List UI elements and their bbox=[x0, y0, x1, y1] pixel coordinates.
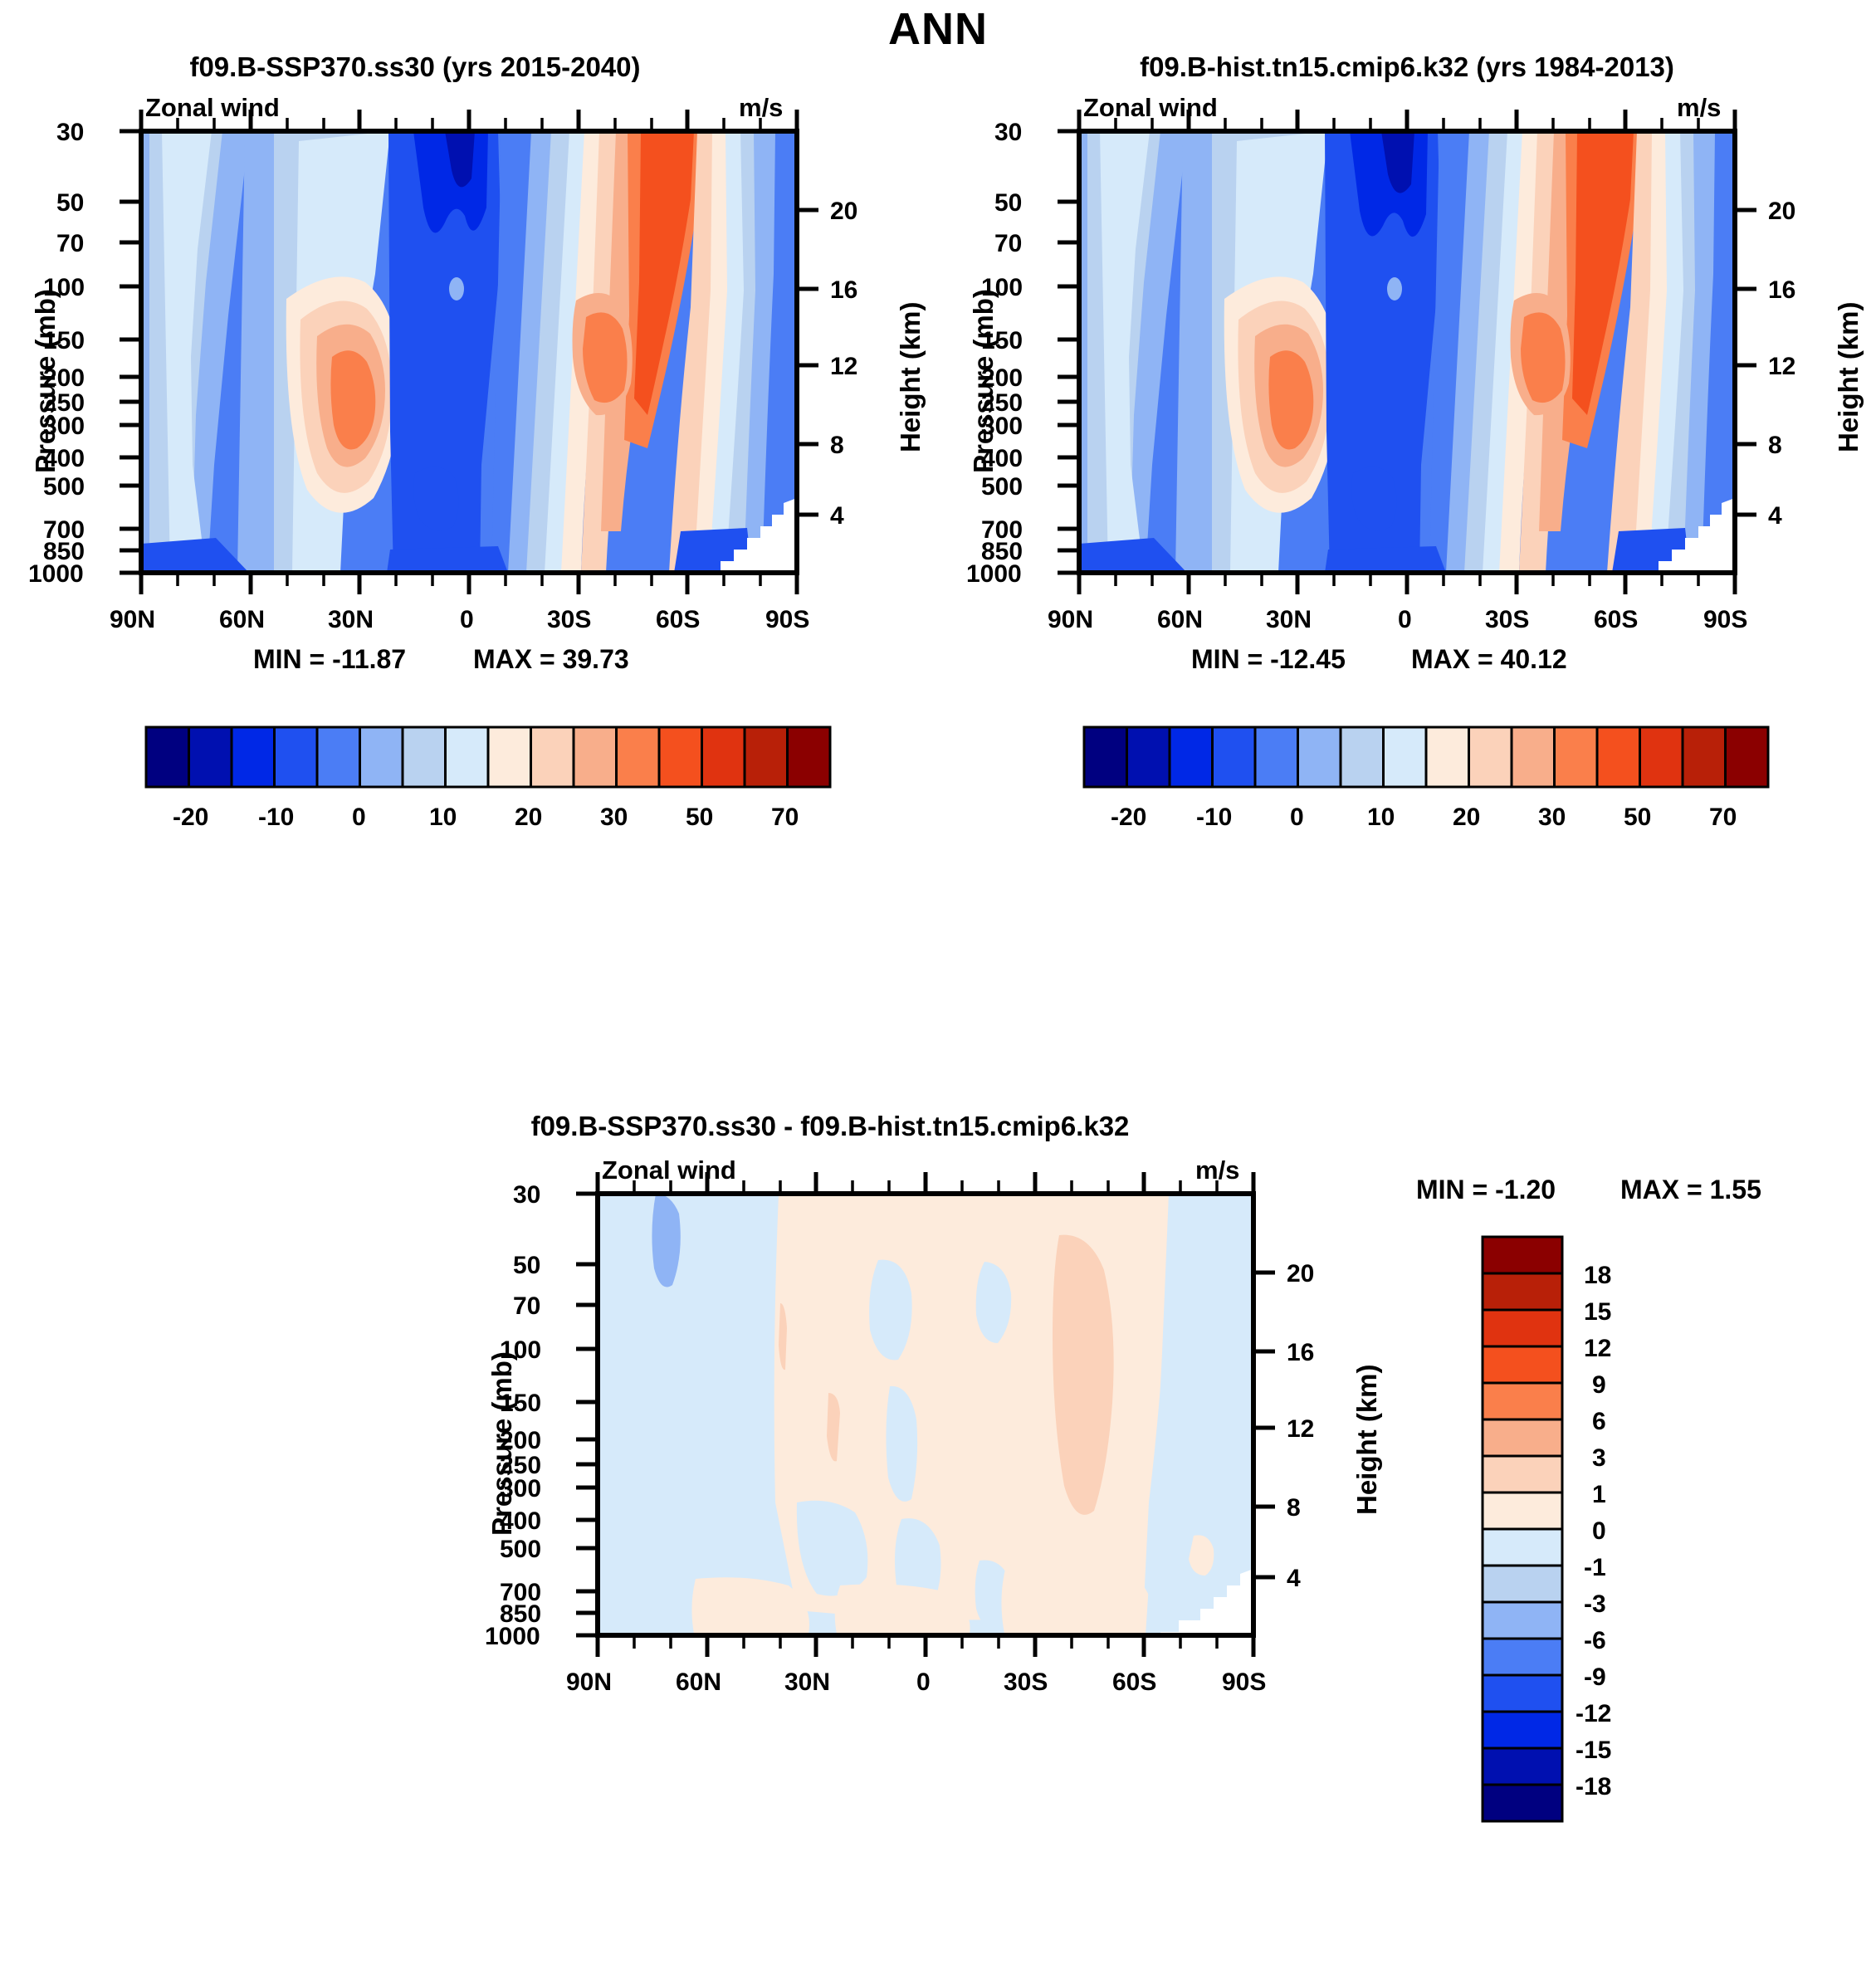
panel-case1-xtick-30S: 30S bbox=[547, 606, 591, 634]
panel-diff-y2tick-12: 12 bbox=[1287, 1415, 1314, 1444]
panel-diff-cblabel-m1: -1 bbox=[1584, 1554, 1606, 1582]
panel-diff-ytick-50: 50 bbox=[513, 1252, 540, 1280]
panel-case2-xtick-30N: 30N bbox=[1266, 606, 1312, 634]
panel-case2-xtick-90S: 90S bbox=[1703, 606, 1747, 634]
panel-diff-cblabel-m9: -9 bbox=[1584, 1664, 1606, 1692]
panel-case2-cblabel-0: -20 bbox=[1111, 804, 1146, 832]
panel-case1-cblabel-7: 70 bbox=[771, 804, 799, 832]
panel-diff-ytick-500: 500 bbox=[500, 1536, 541, 1564]
panel-case2-xtick-0: 0 bbox=[1398, 606, 1412, 634]
panel-case2-cblabel-1: -10 bbox=[1196, 804, 1232, 832]
panel-case2-y2tick-12: 12 bbox=[1768, 353, 1795, 381]
panel-case1-y2tick-8: 8 bbox=[830, 432, 844, 460]
panel-diff-xtick-30S: 30S bbox=[1004, 1668, 1048, 1697]
panel-diff-cblabel-m15: -15 bbox=[1576, 1737, 1611, 1765]
panel-diff-min-label: MIN = -1.20 bbox=[1416, 1175, 1556, 1205]
panel-diff-xtick-30N: 30N bbox=[784, 1668, 830, 1697]
panel-case1-contour-field bbox=[141, 131, 797, 573]
panel-case1-cblabel-0: -20 bbox=[173, 804, 208, 832]
panel-diff-xtick-60S: 60S bbox=[1112, 1668, 1156, 1697]
colorbar-main-cells-1[interactable] bbox=[146, 727, 830, 787]
panel-case2-cblabel-6: 50 bbox=[1624, 804, 1651, 832]
colorbar-main-cells-2[interactable] bbox=[1084, 727, 1768, 787]
panel-case1-ytick-70: 70 bbox=[56, 230, 84, 258]
panel-diff-ytick-400: 400 bbox=[500, 1507, 541, 1536]
panel-diff-y2tick-4: 4 bbox=[1287, 1565, 1301, 1593]
panel-case1-ytick-30: 30 bbox=[56, 119, 84, 147]
panel-case2-cblabel-3: 10 bbox=[1367, 804, 1395, 832]
panel-case1-max-label: MAX = 39.73 bbox=[473, 644, 629, 675]
panel-case1-xtick-90S: 90S bbox=[765, 606, 809, 634]
panel-case2-ytick-1000: 1000 bbox=[966, 560, 1022, 589]
panel-case2-cblabel-5: 30 bbox=[1538, 804, 1566, 832]
panel-case2-ytick-200: 200 bbox=[981, 364, 1023, 393]
panel-diff-cblabel-m18: -18 bbox=[1576, 1773, 1611, 1801]
panel-case2-ytick-70: 70 bbox=[994, 230, 1022, 258]
panel-case2-cblabel-2: 0 bbox=[1290, 804, 1304, 832]
panel-case2-xtick-60S: 60S bbox=[1594, 606, 1638, 634]
panel-case2-xtick-90N: 90N bbox=[1048, 606, 1093, 634]
panel-case2-xtick-30S: 30S bbox=[1485, 606, 1529, 634]
panel-case1-ytick-200: 200 bbox=[43, 364, 85, 393]
panel-case1-ytick-400: 400 bbox=[43, 445, 85, 473]
panel-diff-ytick-200: 200 bbox=[500, 1427, 541, 1455]
panel-case1-cblabel-1: -10 bbox=[258, 804, 294, 832]
panel-diff-cblabel-m3: -3 bbox=[1584, 1590, 1606, 1619]
panel-case1-cblabel-2: 0 bbox=[352, 804, 366, 832]
panel-case1-xtick-0: 0 bbox=[460, 606, 474, 634]
panel-case1-ytick-500: 500 bbox=[43, 473, 85, 501]
panel-case2-ytick-300: 300 bbox=[981, 413, 1023, 441]
colorbar-diff-cells[interactable] bbox=[1483, 1237, 1562, 1821]
panel-case1-cblabel-5: 30 bbox=[600, 804, 628, 832]
panel-diff-cblabel-m12: -12 bbox=[1576, 1700, 1611, 1728]
panel-case1-y2tick-4: 4 bbox=[830, 502, 844, 530]
panel-diff-cblabel-12: 12 bbox=[1584, 1335, 1611, 1363]
panel-diff-cblabel-0: 0 bbox=[1592, 1517, 1606, 1546]
panel-diff-cblabel-15: 15 bbox=[1584, 1298, 1611, 1326]
panel-diff-xtick-60N: 60N bbox=[676, 1668, 721, 1697]
panel-case2-ytick-100: 100 bbox=[981, 274, 1023, 302]
panel-diff-ytick-30: 30 bbox=[513, 1181, 540, 1209]
panel-case2-cblabel-4: 20 bbox=[1453, 804, 1480, 832]
panel-case1-xtick-90N: 90N bbox=[110, 606, 155, 634]
panel-case1-ytick-1000: 1000 bbox=[28, 560, 84, 589]
panel-case2-y2tick-20: 20 bbox=[1768, 198, 1795, 226]
panel-case1-cblabel-6: 50 bbox=[686, 804, 713, 832]
panel-case2-ytick-400: 400 bbox=[981, 445, 1023, 473]
panel-diff-xtick-0: 0 bbox=[916, 1668, 931, 1697]
panel-case2-xtick-60N: 60N bbox=[1157, 606, 1203, 634]
panel-case1-y2tick-12: 12 bbox=[830, 353, 857, 381]
panel-case2-ytick-50: 50 bbox=[994, 189, 1022, 217]
panel-case1-cblabel-3: 10 bbox=[429, 804, 457, 832]
panel-case2-ytick-150: 150 bbox=[981, 327, 1023, 355]
panel-diff-cblabel-6: 6 bbox=[1592, 1408, 1606, 1436]
figure-root: ANN f09.B-SSP370.ss30 (yrs 2015-2040) Zo… bbox=[0, 0, 1876, 1964]
panel-case2-ytick-500: 500 bbox=[981, 473, 1023, 501]
panel-case1-ytick-100: 100 bbox=[43, 274, 85, 302]
panel-diff-y2tick-20: 20 bbox=[1287, 1260, 1314, 1288]
panel-case1-ytick-50: 50 bbox=[56, 189, 84, 217]
panel-diff-cblabel-9: 9 bbox=[1592, 1371, 1606, 1400]
panel-diff-cblabel-1: 1 bbox=[1592, 1481, 1606, 1509]
panel-diff: f09.B-SSP370.ss30 - f09.B-hist.tn15.cmip… bbox=[0, 1071, 1876, 1964]
panel-diff-ytick-100: 100 bbox=[500, 1336, 541, 1365]
panel-case1: f09.B-SSP370.ss30 (yrs 2015-2040) Zonal … bbox=[0, 0, 938, 1079]
panel-case2: f09.B-hist.tn15.cmip6.k32 (yrs 1984-2013… bbox=[938, 0, 1876, 1079]
panel-case1-xtick-30N: 30N bbox=[328, 606, 374, 634]
panel-diff-ytick-1000: 1000 bbox=[485, 1623, 540, 1651]
panel-case2-y2tick-4: 4 bbox=[1768, 502, 1782, 530]
panel-case1-y2tick-16: 16 bbox=[830, 276, 857, 305]
panel-diff-xtick-90N: 90N bbox=[566, 1668, 612, 1697]
panel-case1-xtick-60N: 60N bbox=[219, 606, 265, 634]
panel-diff-cblabel-m6: -6 bbox=[1584, 1627, 1606, 1655]
panel-case1-ytick-150: 150 bbox=[43, 327, 85, 355]
panel-diff-xtick-90S: 90S bbox=[1222, 1668, 1266, 1697]
panel-diff-ytick-70: 70 bbox=[513, 1292, 540, 1321]
panel-diff-max-label: MAX = 1.55 bbox=[1620, 1175, 1761, 1205]
panel-case2-min-label: MIN = -12.45 bbox=[1191, 644, 1346, 675]
panel-diff-y2tick-16: 16 bbox=[1287, 1339, 1314, 1367]
panel-case1-cblabel-4: 20 bbox=[515, 804, 542, 832]
panel-case2-cblabel-7: 70 bbox=[1709, 804, 1737, 832]
panel-case1-ytick-300: 300 bbox=[43, 413, 85, 441]
panel-diff-ytick-150: 150 bbox=[500, 1390, 541, 1418]
panel-case1-y2tick-20: 20 bbox=[830, 198, 857, 226]
panel-case1-xtick-60S: 60S bbox=[656, 606, 700, 634]
panel-case2-y2tick-16: 16 bbox=[1768, 276, 1795, 305]
panel-case1-min-label: MIN = -11.87 bbox=[253, 644, 406, 675]
panel-diff-contour-field bbox=[598, 1194, 1253, 1635]
panel-case2-y2tick-8: 8 bbox=[1768, 432, 1782, 460]
panel-diff-y2tick-8: 8 bbox=[1287, 1494, 1301, 1522]
panel-case2-ytick-30: 30 bbox=[994, 119, 1022, 147]
panel-case2-contour-field bbox=[1079, 131, 1735, 573]
panel-diff-cblabel-3: 3 bbox=[1592, 1444, 1606, 1473]
panel-diff-ytick-300: 300 bbox=[500, 1475, 541, 1503]
panel-diff-cblabel-18: 18 bbox=[1584, 1262, 1611, 1290]
panel-case2-max-label: MAX = 40.12 bbox=[1411, 644, 1567, 675]
